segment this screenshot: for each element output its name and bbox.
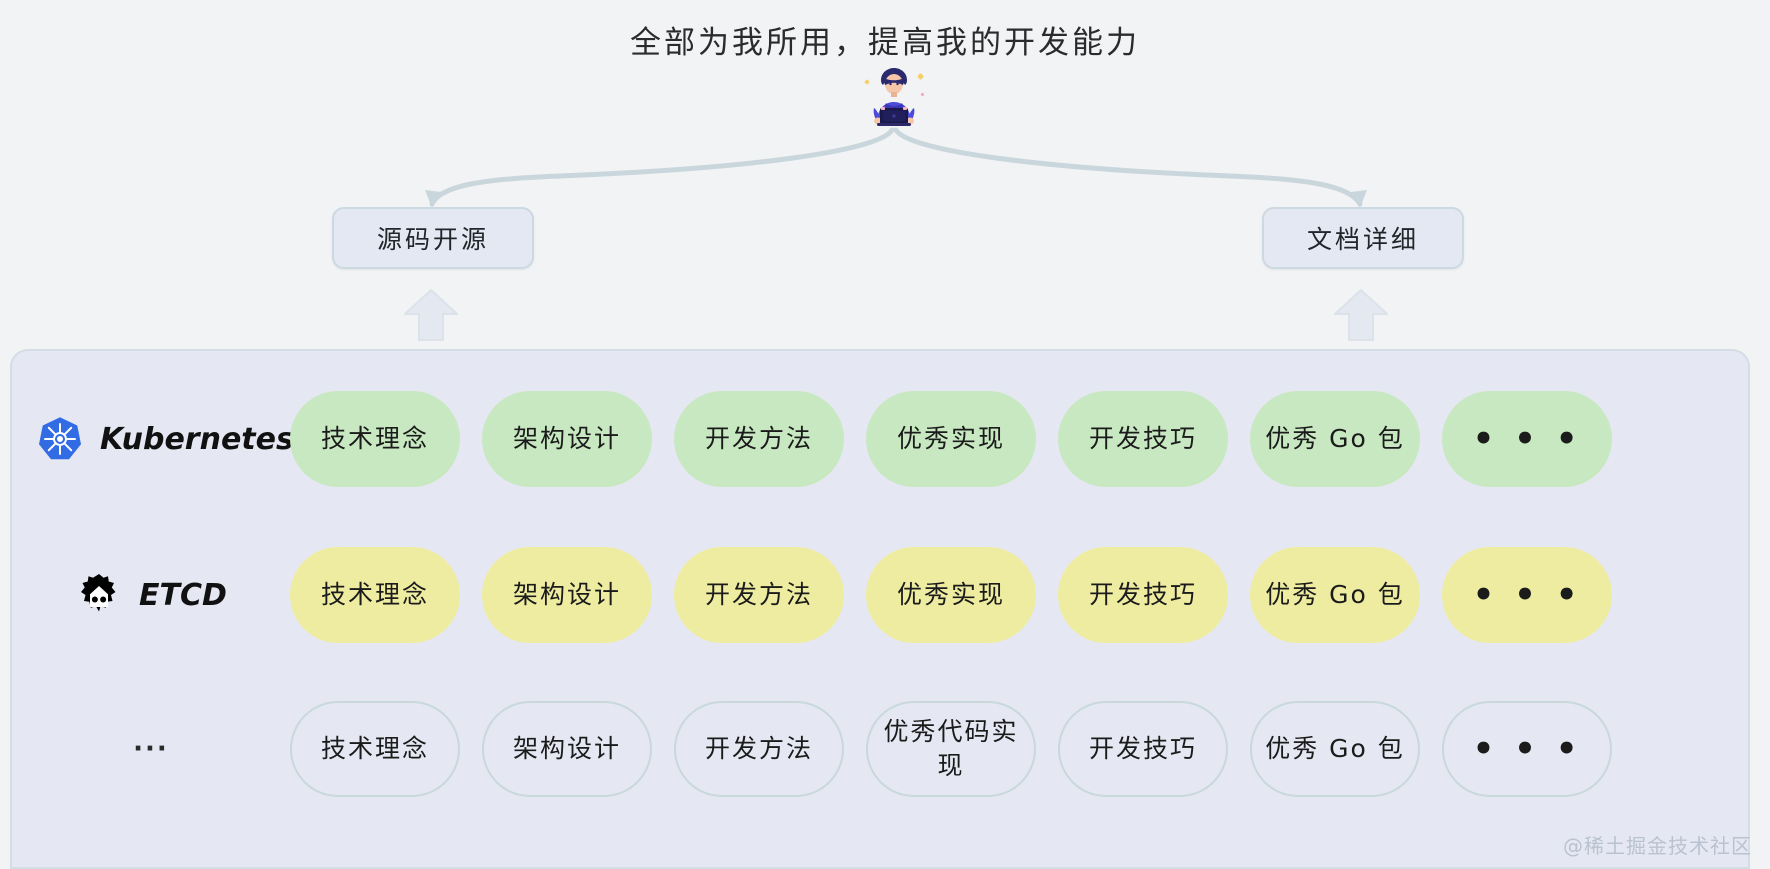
pill-item[interactable]: 优秀实现 <box>866 391 1036 487</box>
pill-label: 优秀实现 <box>897 422 1005 456</box>
pill-label: 架构设计 <box>513 578 621 612</box>
pill-item-more[interactable]: • • • <box>1442 391 1612 487</box>
row-kubernetes-title: Kubernetes <box>100 422 294 457</box>
node-source-open[interactable]: 源码开源 <box>332 207 534 269</box>
pill-item[interactable]: 开发方法 <box>674 547 844 643</box>
pill-item[interactable]: 优秀 Go 包 <box>1250 547 1420 643</box>
pill-label: 开发技巧 <box>1089 732 1197 766</box>
pill-label: 架构设计 <box>513 422 621 456</box>
pill-label: 开发技巧 <box>1089 422 1197 456</box>
up-arrow-icon-left <box>403 288 459 342</box>
pill-label: 优秀代码实现 <box>878 715 1024 783</box>
pill-label: • • • <box>1473 422 1582 456</box>
pill-item[interactable]: 开发技巧 <box>1058 547 1228 643</box>
row-kubernetes-label-group: Kubernetes <box>12 415 290 463</box>
pill-label: 架构设计 <box>513 732 621 766</box>
up-arrow-icon-right <box>1333 288 1389 342</box>
row-etcd-label-group: ETCD <box>12 571 290 619</box>
pill-label: 开发技巧 <box>1089 578 1197 612</box>
node-doc-detail[interactable]: 文档详细 <box>1262 207 1464 269</box>
pill-item[interactable]: 架构设计 <box>482 391 652 487</box>
row-etcd-title: ETCD <box>139 578 227 613</box>
pill-item[interactable]: 优秀代码实现 <box>866 701 1036 797</box>
pill-item[interactable]: 开发方法 <box>674 391 844 487</box>
pill-label: 开发方法 <box>705 422 813 456</box>
row-etcd: ETCD 技术理念 架构设计 开发方法 优秀实现 开发技巧 优秀 Go 包 • … <box>12 535 1752 655</box>
node-doc-detail-label: 文档详细 <box>1307 220 1419 256</box>
pill-item[interactable]: 技术理念 <box>290 547 460 643</box>
pill-item[interactable]: 优秀 Go 包 <box>1250 391 1420 487</box>
pill-item[interactable]: 架构设计 <box>482 547 652 643</box>
projects-panel: Kubernetes 技术理念 架构设计 开发方法 优秀实现 开发技巧 优秀 G… <box>10 349 1750 869</box>
pill-item-more[interactable]: • • • <box>1442 547 1612 643</box>
pill-item[interactable]: 开发技巧 <box>1058 391 1228 487</box>
row-more-label-group: ··· <box>12 734 290 764</box>
row-more-items: 技术理念 架构设计 开发方法 优秀代码实现 开发技巧 优秀 Go 包 • • • <box>290 701 1612 797</box>
pill-item[interactable]: 开发技巧 <box>1058 701 1228 797</box>
node-source-open-label: 源码开源 <box>377 220 489 256</box>
pill-label: 优秀 Go 包 <box>1265 422 1405 456</box>
etcd-logo <box>75 571 123 619</box>
pill-label: 开发方法 <box>705 732 813 766</box>
pill-label: 技术理念 <box>321 732 429 766</box>
watermark: @稀土掘金技术社区 <box>1563 830 1752 859</box>
row-more: ··· 技术理念 架构设计 开发方法 优秀代码实现 开发技巧 优秀 Go 包 •… <box>12 689 1752 809</box>
pill-label: 开发方法 <box>705 578 813 612</box>
pill-item[interactable]: 架构设计 <box>482 701 652 797</box>
row-kubernetes: Kubernetes 技术理念 架构设计 开发方法 优秀实现 开发技巧 优秀 G… <box>12 379 1752 499</box>
row-more-title: ··· <box>133 734 169 764</box>
pill-label: 优秀 Go 包 <box>1265 732 1405 766</box>
pill-label: • • • <box>1473 732 1582 766</box>
page-title: 全部为我所用，提高我的开发能力 <box>0 17 1770 62</box>
row-etcd-items: 技术理念 架构设计 开发方法 优秀实现 开发技巧 优秀 Go 包 • • • <box>290 547 1612 643</box>
pill-item[interactable]: 优秀实现 <box>866 547 1036 643</box>
diagram-canvas: 全部为我所用，提高我的开发能力 <box>0 0 1770 867</box>
pill-item[interactable]: 技术理念 <box>290 701 460 797</box>
pill-label: 优秀 Go 包 <box>1265 578 1405 612</box>
pill-label: 优秀实现 <box>897 578 1005 612</box>
pill-item-more[interactable]: • • • <box>1442 701 1612 797</box>
pill-label: 技术理念 <box>321 578 429 612</box>
pill-item[interactable]: 技术理念 <box>290 391 460 487</box>
pill-item[interactable]: 优秀 Go 包 <box>1250 701 1420 797</box>
pill-label: • • • <box>1473 578 1582 612</box>
pill-item[interactable]: 开发方法 <box>674 701 844 797</box>
person-with-laptop-illustration <box>855 66 933 128</box>
row-kubernetes-items: 技术理念 架构设计 开发方法 优秀实现 开发技巧 优秀 Go 包 • • • <box>290 391 1612 487</box>
kubernetes-logo <box>36 415 84 463</box>
pill-label: 技术理念 <box>321 422 429 456</box>
